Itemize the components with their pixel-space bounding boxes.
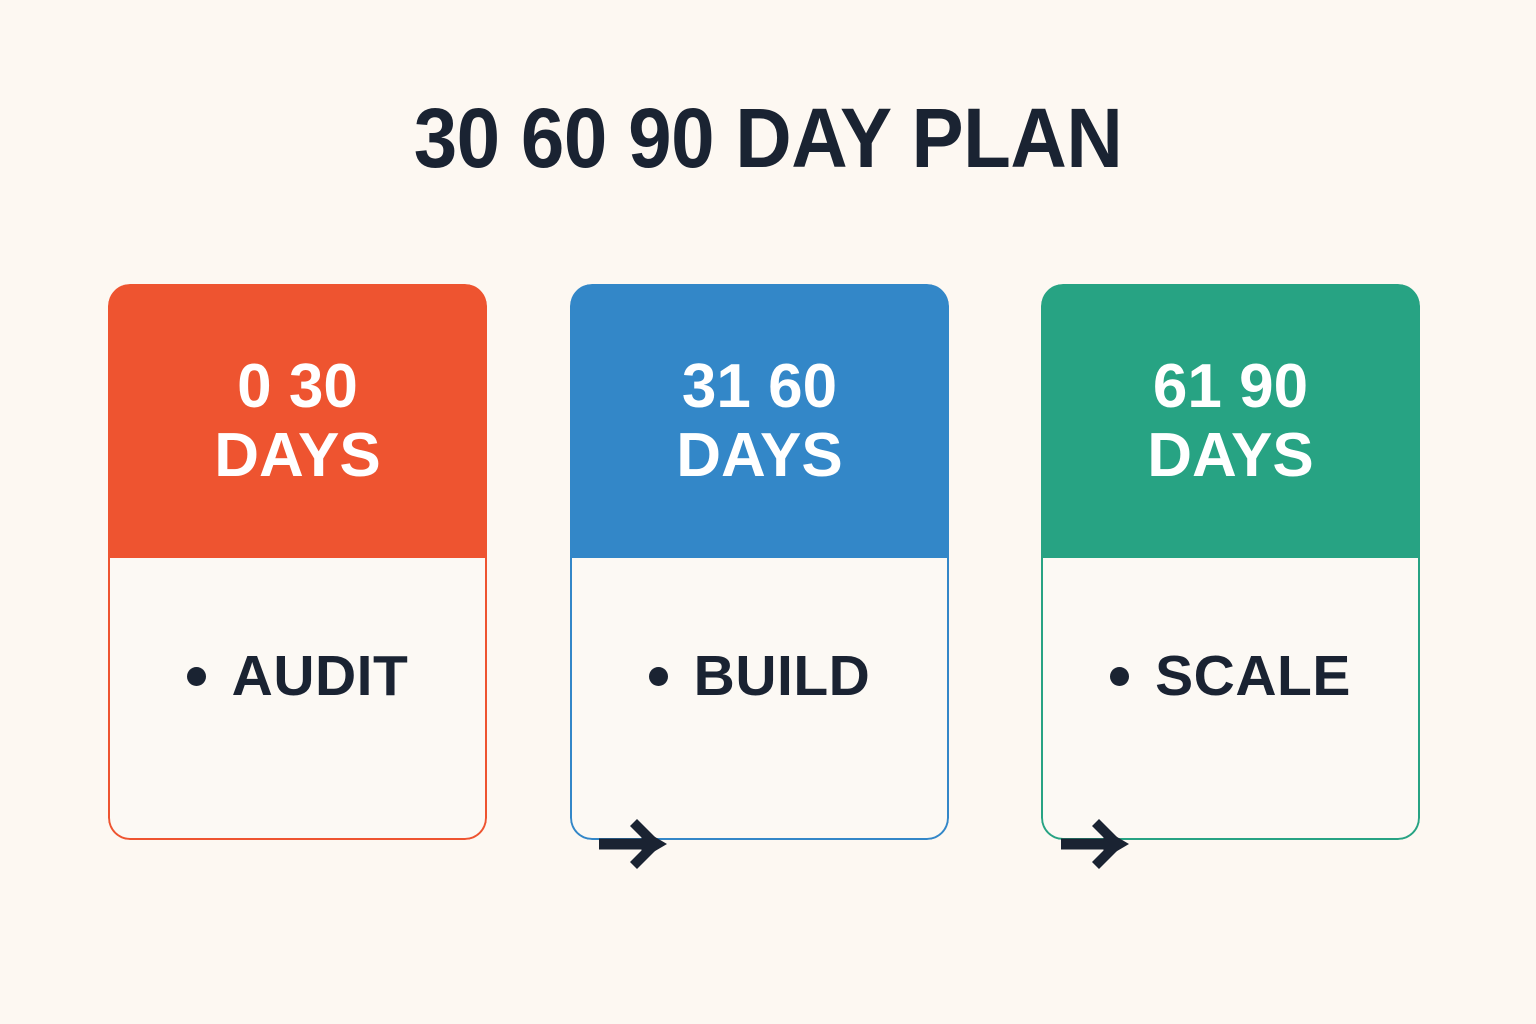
page-title: 30 60 90 DAY PLAN — [54, 96, 1482, 180]
arrow-right-icon — [597, 808, 669, 880]
phase-card-2[interactable]: 31 60 DAYS BUILD — [570, 284, 949, 840]
phase-card-3-bullet-label: SCALE — [1155, 648, 1351, 705]
phase-card-2-range: 31 60 — [682, 352, 837, 421]
phase-card-3[interactable]: 61 90 DAYS SCALE — [1041, 284, 1420, 840]
phase-card-2-bullet-label: BUILD — [694, 648, 871, 705]
phase-card-1-unit: DAYS — [214, 421, 381, 490]
phase-card-2-header: 31 60 DAYS — [570, 284, 949, 558]
phase-card-2-body: BUILD — [570, 558, 949, 840]
phase-card-1-range: 0 30 — [237, 352, 358, 421]
phase-card-3-bullet-row: SCALE — [1110, 648, 1351, 705]
phase-card-2-unit: DAYS — [676, 421, 843, 490]
phase-card-1-bullet-row: AUDIT — [187, 648, 409, 705]
arrow-right-icon — [1059, 808, 1131, 880]
bullet-dot-icon — [1110, 667, 1129, 686]
phase-card-1-header: 0 30 DAYS — [108, 284, 487, 558]
bullet-dot-icon — [649, 667, 668, 686]
phase-card-3-range: 61 90 — [1153, 352, 1308, 421]
phase-card-3-body: SCALE — [1041, 558, 1420, 840]
phase-card-1[interactable]: 0 30 DAYS AUDIT — [108, 284, 487, 840]
bullet-dot-icon — [187, 667, 206, 686]
phase-card-3-unit: DAYS — [1147, 421, 1314, 490]
phase-card-2-bullet-row: BUILD — [649, 648, 871, 705]
phase-card-1-bullet-label: AUDIT — [232, 648, 409, 705]
phase-card-1-body: AUDIT — [108, 558, 487, 840]
phase-card-3-header: 61 90 DAYS — [1041, 284, 1420, 558]
phase-cards-row: 0 30 DAYS AUDIT 31 60 DAYS BUILD 61 90 D… — [108, 284, 1420, 840]
